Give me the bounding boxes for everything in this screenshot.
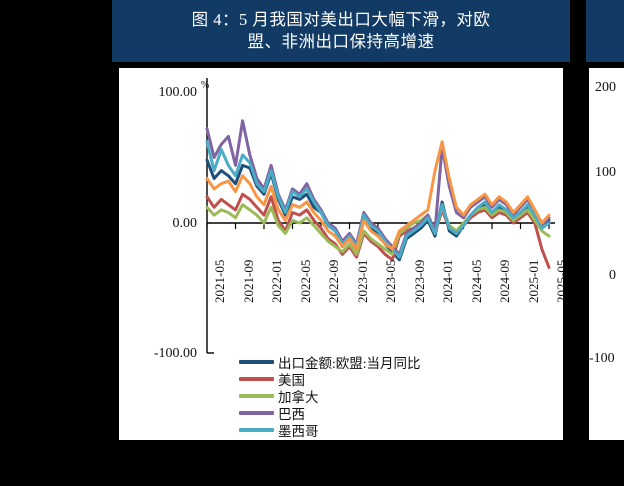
screenshot-stage: 图 4：5 月我国对美出口大幅下滑，对欧 盟、非洲出口保持高增速 100.00 … — [0, 0, 624, 486]
chart-legend: 出口金额:欧盟:当月同比美国加拿大巴西墨西哥 — [239, 353, 421, 438]
legend-color-swatch — [239, 360, 274, 364]
legend-color-swatch — [239, 394, 274, 398]
y-tick-label-right: -100 — [589, 351, 615, 367]
figure-panel-left: 图 4：5 月我国对美出口大幅下滑，对欧 盟、非洲出口保持高增速 100.00 … — [112, 0, 570, 440]
figure-title-line-2: 盟、非洲出口保持高增速 — [192, 31, 491, 53]
legend-color-swatch — [239, 428, 274, 432]
figure-title-bar-right — [586, 0, 624, 62]
legend-color-swatch — [239, 377, 274, 381]
y-tick-label: 100.00 — [159, 85, 198, 101]
y-axis-labels: 100.00 0.00 -100.00 — [119, 68, 197, 440]
y-tick-label-right: 0 — [609, 268, 616, 284]
figure-panel-right-clipped: 200 100 0 -100 — [586, 0, 624, 440]
legend-label: 墨西哥 — [278, 420, 319, 440]
legend-color-swatch — [239, 411, 274, 415]
chart-area-right: 200 100 0 -100 — [589, 68, 624, 440]
legend-item[interactable]: 墨西哥 — [239, 421, 421, 438]
figure-title-bar: 图 4：5 月我国对美出口大幅下滑，对欧 盟、非洲出口保持高增速 — [112, 0, 570, 62]
legend-item[interactable]: 加拿大 — [239, 387, 421, 404]
y-tick-label: -100.00 — [154, 346, 197, 362]
legend-item[interactable]: 巴西 — [239, 404, 421, 421]
figure-title-line-1: 图 4：5 月我国对美出口大幅下滑，对欧 — [192, 9, 491, 31]
legend-item[interactable]: 出口金额:欧盟:当月同比 — [239, 353, 421, 370]
chart-area: 100.00 0.00 -100.00 % 2021-052021-092022… — [119, 68, 563, 440]
y-tick-label: 0.00 — [173, 216, 198, 232]
y-tick-label-right: 100 — [595, 165, 616, 181]
legend-item[interactable]: 美国 — [239, 370, 421, 387]
y-tick-label-right: 200 — [595, 80, 616, 96]
